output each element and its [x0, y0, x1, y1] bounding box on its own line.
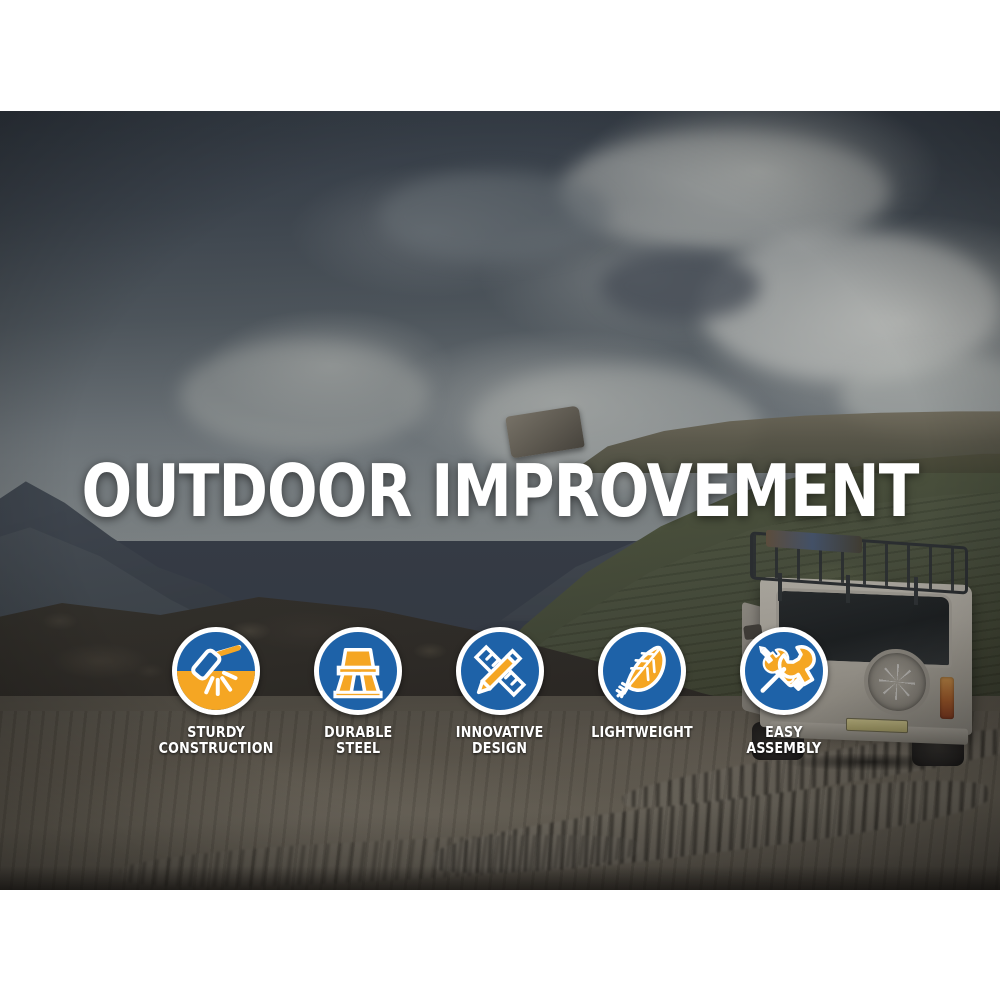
feature-label: LIGHTWEIGHT [591, 724, 693, 740]
cloud [380, 171, 610, 261]
hammer-impact-icon [172, 627, 260, 715]
feature-innovative-design: INNOVATIVE DESIGN [456, 627, 544, 756]
feature-easy-assembly: EASY ASSEMBLY [740, 627, 828, 756]
letterbox-bottom [0, 890, 1000, 1000]
cloud [600, 251, 760, 321]
hero-photo: OUTDOOR IMPROVEMENT [0, 111, 1000, 890]
feather-icon [598, 627, 686, 715]
ruler-pencil-icon [456, 627, 544, 715]
feature-badge-row: STURDY CONSTRUCTION DURABLE STEEL [0, 627, 1000, 756]
i-beam-icon [314, 627, 402, 715]
cloud [180, 341, 430, 451]
feature-label: EASY ASSEMBLY [747, 724, 822, 756]
feature-lightweight: LIGHTWEIGHT [598, 627, 686, 740]
screwdriver-wrench-icon [740, 627, 828, 715]
feature-label: STURDY CONSTRUCTION [159, 724, 274, 756]
feature-durable-steel: DURABLE STEEL [314, 627, 402, 756]
feature-sturdy-construction: STURDY CONSTRUCTION [172, 627, 260, 756]
foreground-shadow [0, 866, 1000, 890]
letterbox-top [0, 0, 1000, 111]
page-title: OUTDOOR IMPROVEMENT [40, 455, 960, 527]
banner-page: OUTDOOR IMPROVEMENT [0, 0, 1000, 1000]
feature-label: DURABLE STEEL [324, 724, 392, 756]
feature-label: INNOVATIVE DESIGN [456, 724, 544, 756]
